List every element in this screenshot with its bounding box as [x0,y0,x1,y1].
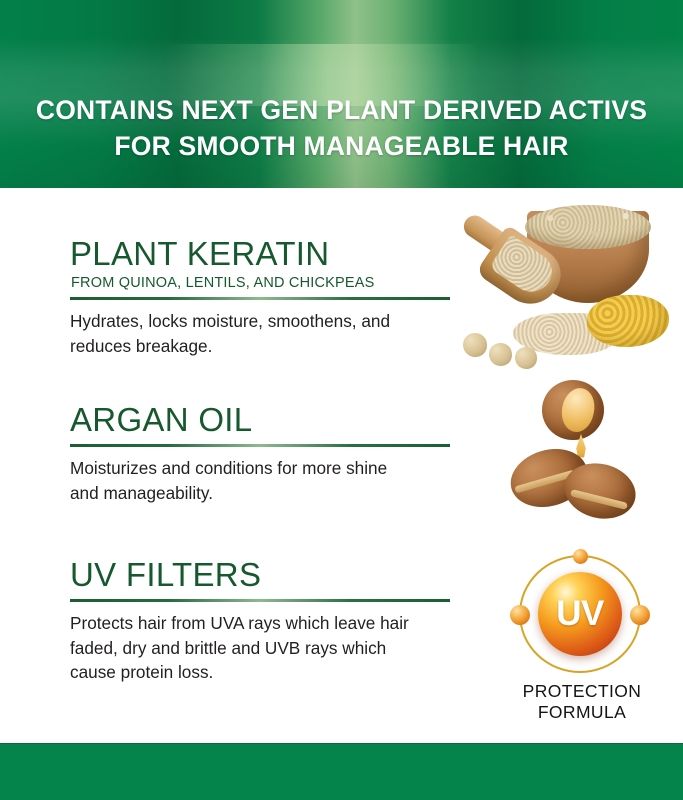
ingredient-block-argan-oil: ARGAN OIL Moisturizes and conditions for… [70,401,455,505]
scoop-quinoa-fill [489,234,559,300]
wooden-bowl-icon [527,211,649,303]
argan-nut-seam [514,470,576,494]
infographic-page: CONTAINS NEXT GEN PLANT DERIVED ACTIVS F… [0,0,683,800]
heading-divider [70,599,450,602]
yellow-lentils-pile [587,295,669,347]
ingredient-block-uv-filters: UV FILTERS Protects hair from UVA rays w… [70,556,455,685]
uv-badge-caption: PROTECTION FORMULA [497,681,667,723]
heading-divider [70,297,450,300]
ingredient-description: Hydrates, locks moisture, smoothens, and… [70,309,455,358]
argan-nuts-photo [490,378,665,533]
wooden-scoop-handle [460,211,519,261]
argan-nut-open-icon [542,380,604,440]
uv-orbit-node-icon [630,605,650,625]
uv-sphere-label: UV [538,572,622,656]
ingredient-heading: UV FILTERS [70,556,455,594]
uv-sphere-icon [538,572,622,656]
chickpea-icon [463,333,487,357]
ingredient-subheading: FROM QUINOA, LENTILS, AND CHICKPEAS [71,274,455,292]
quinoa-lentils-chickpeas-photo [455,203,670,378]
chickpea-icon [515,347,537,369]
ingredient-block-plant-keratin: PLANT KERATIN FROM QUINOA, LENTILS, AND … [70,235,455,358]
argan-nut-icon [504,440,594,515]
chickpea-icon [489,343,512,366]
uv-protection-formula-badge: UV PROTECTION FORMULA [497,553,667,713]
ingredient-heading: ARGAN OIL [70,401,455,439]
page-title: CONTAINS NEXT GEN PLANT DERIVED ACTIVS F… [0,92,683,164]
heading-divider [70,444,450,447]
argan-kernel-icon [558,385,598,435]
footer-banner [0,743,683,800]
spilled-quinoa [513,313,617,355]
argan-nut-seam [570,489,628,510]
argan-oil-droplet-icon [574,434,588,460]
ingredient-heading: PLANT KERATIN [70,235,455,273]
uv-orbit-ring [519,555,641,673]
argan-nut-icon [559,456,642,526]
ingredient-description: Moisturizes and conditions for more shin… [70,456,455,505]
uv-orbit-node-icon [510,605,530,625]
uv-orbit-node-icon [573,549,588,564]
ingredient-description: Protects hair from UVA rays which leave … [70,611,455,685]
wooden-scoop-body [475,225,570,316]
content-area: PLANT KERATIN FROM QUINOA, LENTILS, AND … [0,188,683,744]
quinoa-grain-fill [525,205,651,249]
